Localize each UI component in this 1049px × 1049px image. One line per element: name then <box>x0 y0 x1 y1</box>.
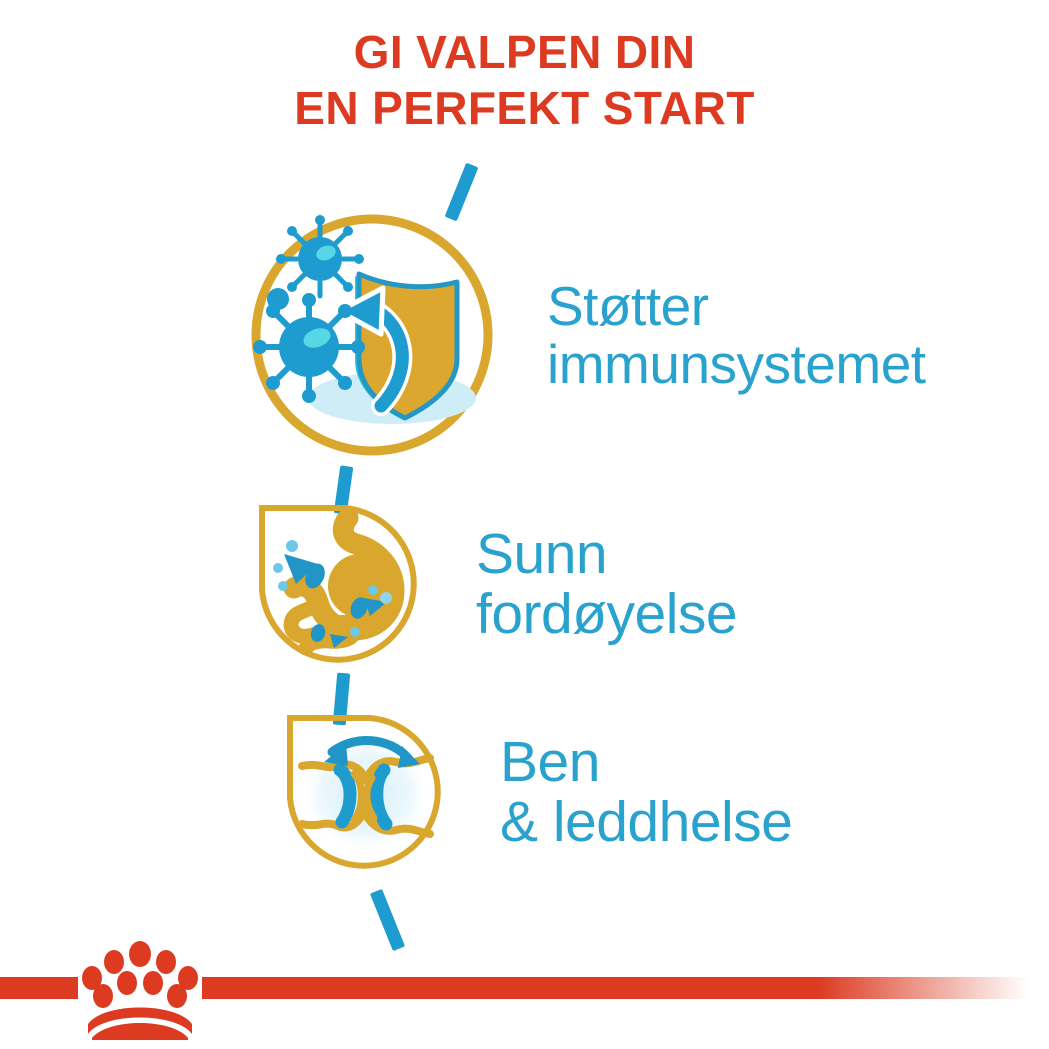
page-title: GI VALPEN DIN EN PERFEKT START <box>0 24 1049 136</box>
stomach-intestine-icon <box>252 498 424 670</box>
benefit-label-digestion: Sunn fordøyelse <box>476 524 737 645</box>
infographic-poster: GI VALPEN DIN EN PERFEKT START <box>0 0 1049 1049</box>
benefit-label-immunity-line-1: Støtter <box>547 277 926 335</box>
benefit-label-joints-line-2: & leddhelse <box>500 792 792 852</box>
connector-dash-4 <box>370 889 405 951</box>
benefit-label-immunity-line-2: immunsystemet <box>547 335 926 393</box>
headline-line-2: EN PERFEKT START <box>0 80 1049 136</box>
headline-line-1: GI VALPEN DIN <box>0 24 1049 80</box>
benefit-item-digestion: Sunn fordøyelse <box>252 498 737 670</box>
bone-joint-icon <box>280 708 448 876</box>
benefit-item-joints: Ben & leddhelse <box>280 708 792 876</box>
shield-virus-icon <box>247 210 497 460</box>
benefit-label-digestion-line-1: Sunn <box>476 524 737 584</box>
benefit-label-joints: Ben & leddhelse <box>500 732 792 853</box>
benefit-label-joints-line-1: Ben <box>500 732 792 792</box>
benefit-item-immunity: Støtter immunsystemet <box>247 210 926 460</box>
royal-canin-crown-logo <box>78 938 202 1040</box>
benefit-label-digestion-line-2: fordøyelse <box>476 584 737 644</box>
benefit-label-immunity: Støtter immunsystemet <box>547 277 926 394</box>
